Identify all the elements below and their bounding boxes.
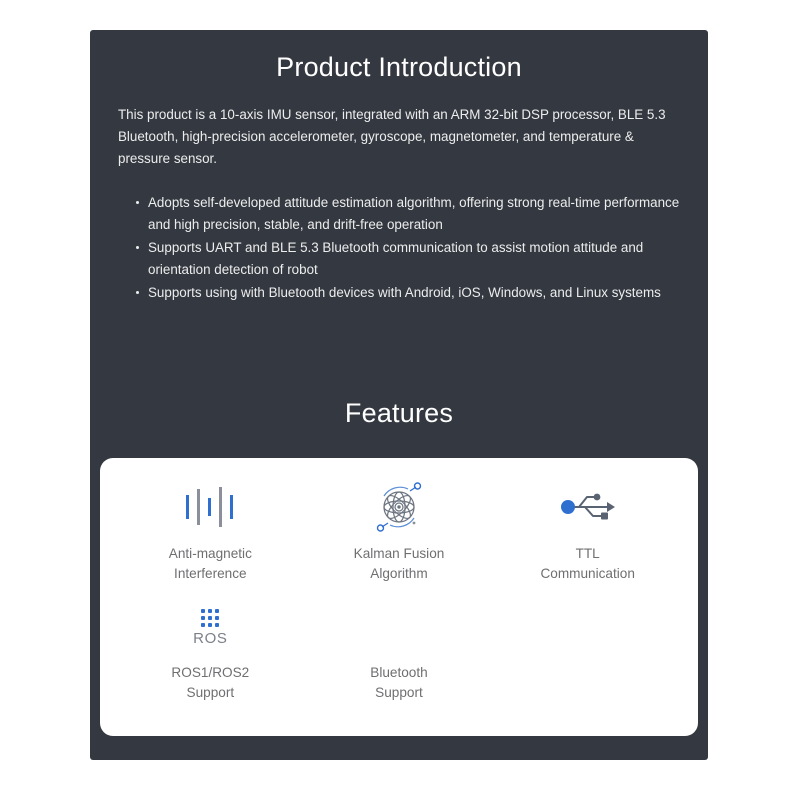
features-grid: Anti-magnetic Interference: [100, 458, 698, 736]
features-card: Anti-magnetic Interference: [100, 458, 698, 736]
ros-wordmark: ROS: [193, 630, 227, 647]
feature-bluetooth-support[interactable]: Bluetooth Support: [305, 599, 494, 722]
feature-anti-magnetic[interactable]: Anti-magnetic Interference: [116, 476, 305, 599]
feature-label: Bluetooth Support: [370, 663, 427, 703]
introduction-block: This product is a 10-axis IMU sensor, in…: [118, 104, 680, 305]
ros-dot-grid: [201, 609, 219, 627]
feature-label: Kalman Fusion Algorithm: [354, 544, 445, 584]
feature-label: ROS1/ROS2 Support: [171, 663, 249, 703]
usb-icon: [557, 476, 619, 538]
globe-network-icon: [370, 476, 428, 538]
feature-label: Anti-magnetic Interference: [169, 544, 252, 584]
signal-bars-icon: [182, 476, 238, 538]
feature-empty-slot: [493, 599, 682, 722]
list-item: Supports UART and BLE 5.3 Bluetooth comm…: [136, 237, 680, 281]
feature-kalman-fusion[interactable]: Kalman Fusion Algorithm: [305, 476, 494, 599]
feature-bullet-list: Adopts self-developed attitude estimatio…: [118, 192, 680, 304]
page-root: Product Introduction This product is a 1…: [0, 0, 800, 800]
feature-ros-support[interactable]: ROS ROS1/ROS2 Support: [116, 599, 305, 722]
feature-ttl-communication[interactable]: TTL Communication: [493, 476, 682, 599]
feature-label: TTL Communication: [540, 544, 634, 584]
page-title: Product Introduction: [90, 52, 708, 83]
dark-content-panel: Product Introduction This product is a 1…: [90, 30, 708, 760]
ros-logo-icon: ROS: [193, 599, 227, 657]
features-title: Features: [90, 398, 708, 429]
intro-paragraph: This product is a 10-axis IMU sensor, in…: [118, 104, 680, 170]
list-item: Adopts self-developed attitude estimatio…: [136, 192, 680, 236]
list-item: Supports using with Bluetooth devices wi…: [136, 282, 680, 304]
